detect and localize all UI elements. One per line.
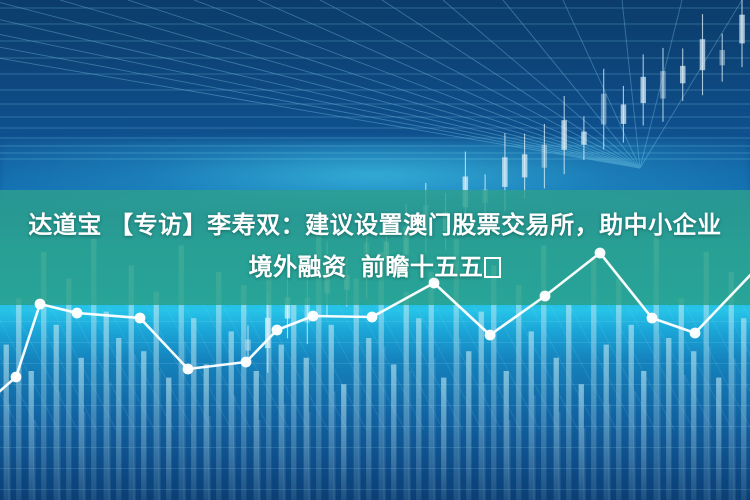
headline-line-2-text: 境外融资 前瞻十五五 bbox=[249, 254, 484, 281]
missing-glyph-box-icon bbox=[484, 257, 501, 278]
page-title: 达道宝 【专访】李寿双：建议设置澳门股票交易所，助中小企业 境外融资 前瞻十五五 bbox=[0, 205, 750, 289]
banner-image: 达道宝 【专访】李寿双：建议设置澳门股票交易所，助中小企业 境外融资 前瞻十五五 bbox=[0, 0, 750, 500]
headline-line-2: 境外融资 前瞻十五五 bbox=[0, 247, 750, 289]
headline-line-1: 达道宝 【专访】李寿双：建议设置澳门股票交易所，助中小企业 bbox=[28, 212, 721, 239]
